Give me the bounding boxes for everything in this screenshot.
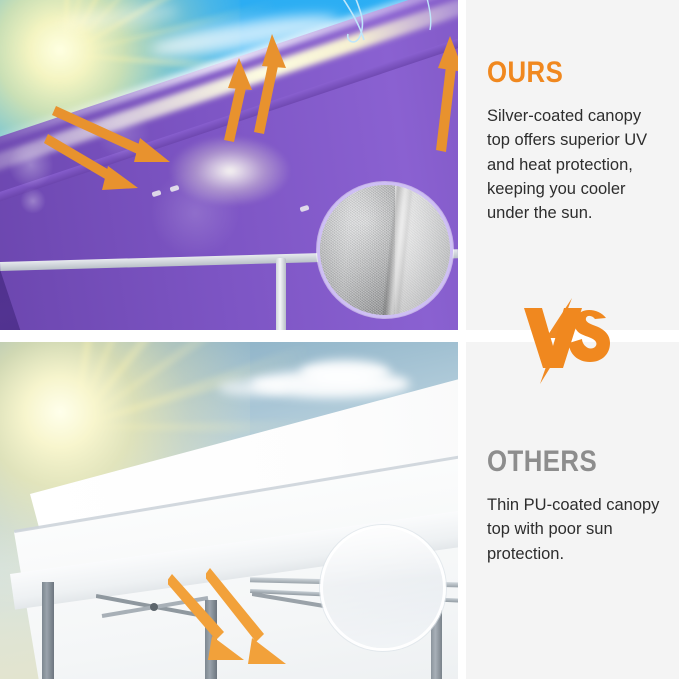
penetrating-heat-arrow-2 xyxy=(206,564,316,672)
comparison-infographic: OURS Silver-coated canopy top offers sup… xyxy=(0,0,679,679)
reflected-ray-arrow-3 xyxy=(412,24,458,154)
fabric-shading xyxy=(320,185,450,315)
silver-fabric-closeup-inset xyxy=(317,182,453,318)
ours-description: Silver-coated canopy top offers superior… xyxy=(487,104,667,225)
fabric-sheen xyxy=(323,528,443,648)
canopy-leg xyxy=(42,582,54,679)
ours-headline: OURS xyxy=(487,58,563,88)
others-description: Thin PU-coated canopy top with poor sun … xyxy=(487,493,667,566)
ours-product-image xyxy=(0,0,458,330)
vs-badge xyxy=(522,298,612,384)
plain-fabric-closeup-inset xyxy=(320,525,446,651)
lens-flare xyxy=(20,188,46,214)
reflected-ray-arrow-2 xyxy=(238,18,300,136)
canopy-leg xyxy=(276,258,286,330)
others-headline: OTHERS xyxy=(487,447,597,477)
incoming-sun-ray-arrow-2 xyxy=(44,128,164,202)
